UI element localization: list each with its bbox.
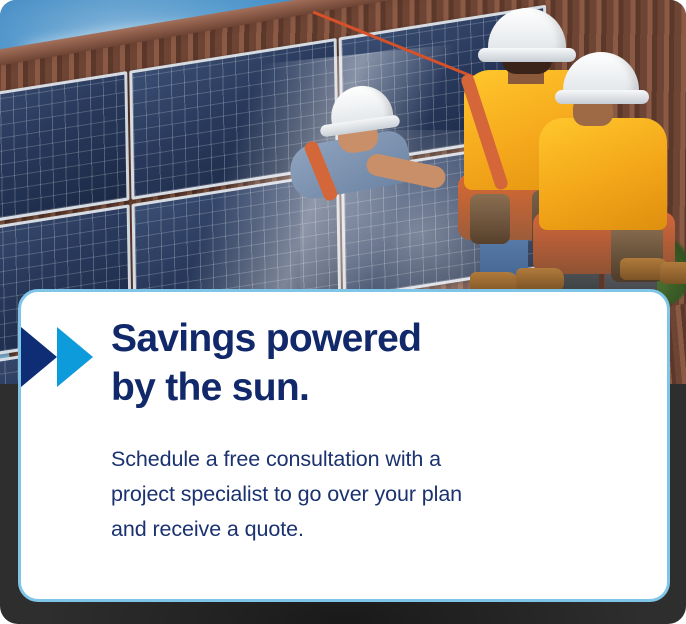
work-boot [516,268,564,290]
info-card: Savings powered by the sun. Schedule a f… [18,289,670,602]
promo-banner: Savings powered by the sun. Schedule a f… [0,0,686,624]
headline: Savings powered by the sun. [111,314,643,412]
double-chevron-right-icon [21,327,109,387]
work-boot [660,262,686,284]
hard-hat-brim [555,90,649,104]
worker-kneeling-blue-shirt [300,86,440,216]
subcopy: Schedule a free consultation with a proj… [111,442,611,547]
card-body: Savings powered by the sun. Schedule a f… [111,314,643,547]
worker-shirt [539,118,667,230]
tool-pouch [470,194,510,244]
